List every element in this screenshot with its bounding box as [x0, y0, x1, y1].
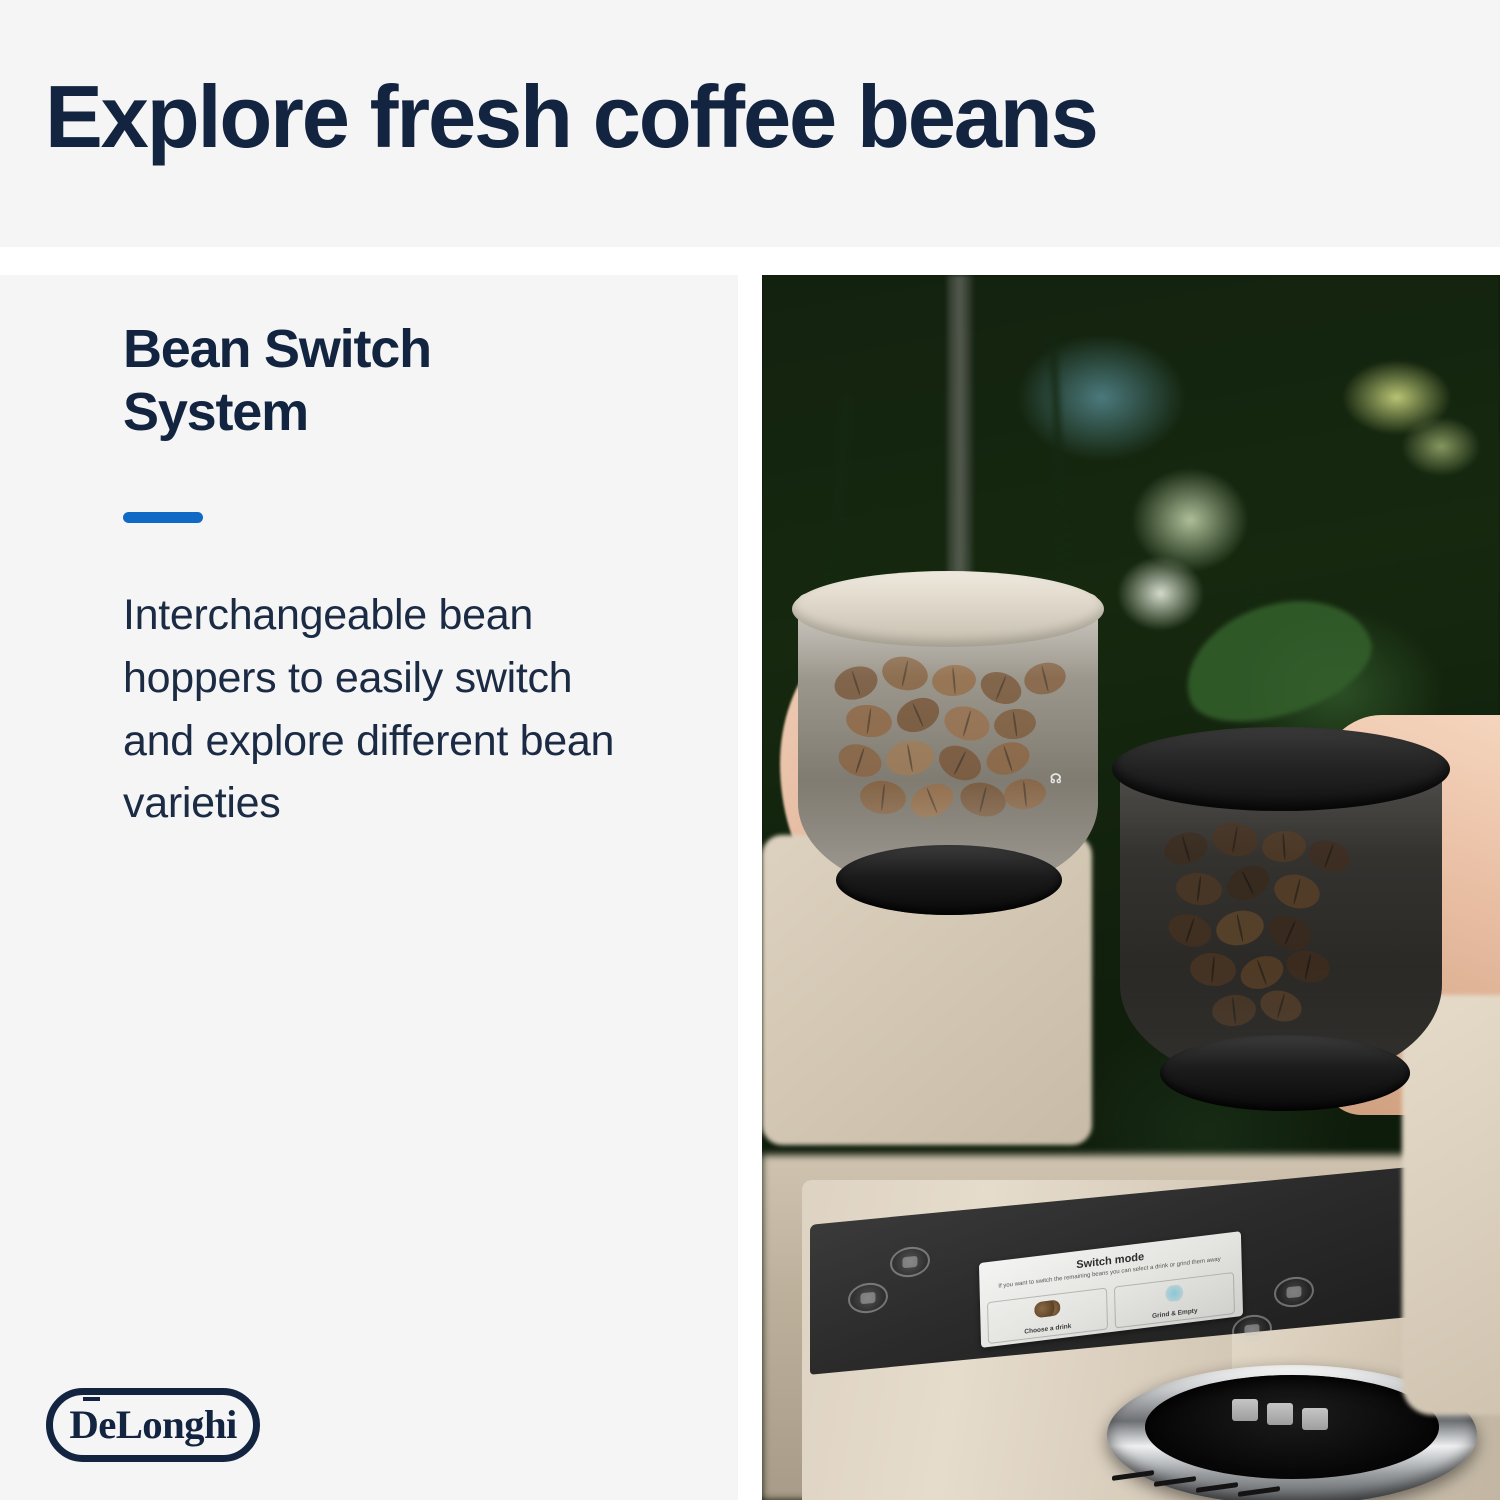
hopper-brand-mark: ☊: [1050, 771, 1061, 787]
coffee-bean: [1189, 951, 1238, 988]
product-photo: Switch mode If you want to switch the re…: [762, 275, 1500, 1500]
coffee-bean: [1236, 950, 1288, 994]
coffee-bean: [957, 778, 1010, 821]
coffee-bean: [933, 739, 987, 787]
coffee-bean: [982, 737, 1033, 780]
grind-empty-icon: [1161, 1284, 1187, 1303]
hopper-mount-ring: [836, 845, 1062, 915]
coffee-bean: [940, 701, 993, 745]
coffee-bean: [906, 778, 958, 823]
hopper-lid[interactable]: [1112, 727, 1450, 811]
coffee-bean: [1174, 870, 1224, 907]
coffee-bean: [1304, 835, 1354, 878]
promo-page: Explore fresh coffee beans Bean Switch S…: [0, 0, 1500, 1500]
delonghi-logo-text: DeLonghi: [69, 1405, 236, 1445]
coffee-bean: [883, 737, 936, 779]
coffee-bean: [1161, 828, 1212, 870]
left-content-panel: [0, 275, 738, 1500]
coffee-bean: [830, 661, 882, 705]
feature-title: Bean Switch System: [123, 318, 553, 443]
coffee-bean: [1021, 658, 1069, 698]
coffee-bean: [1257, 986, 1306, 1026]
coffee-bean: [1164, 909, 1215, 952]
coffee-bean: [1283, 947, 1332, 986]
coffee-bean: [844, 702, 894, 740]
dark-roast-hopper[interactable]: [1120, 753, 1442, 1083]
hopper-lid[interactable]: [792, 571, 1104, 647]
feature-description: Interchangeable bean hoppers to easily s…: [123, 584, 635, 835]
page-title: Explore fresh coffee beans: [45, 72, 1097, 162]
coffee-bean: [992, 706, 1038, 742]
coffee-bean: [879, 653, 931, 695]
warning-pictogram: [1302, 1408, 1328, 1430]
coffee-bean: [1271, 870, 1324, 913]
coffee-bean: [1003, 777, 1048, 811]
coffee-bean: [1211, 993, 1258, 1028]
warning-pictogram: [1267, 1403, 1293, 1425]
coffee-bean: [1209, 819, 1260, 859]
coffee-bean: [976, 666, 1026, 710]
coffee-bean: [834, 739, 885, 782]
coffee-bean: [931, 663, 978, 698]
logo-macron-accent: [83, 1397, 100, 1401]
delonghi-logo: DeLonghi: [46, 1388, 260, 1462]
hopper-mount-ring: [1160, 1035, 1410, 1111]
coffee-bean: [1261, 830, 1307, 864]
coffee-bean: [891, 691, 944, 738]
warning-pictogram: [1232, 1399, 1258, 1421]
header-band: Explore fresh coffee beans: [0, 0, 1500, 247]
coffee-bean: [1263, 909, 1316, 956]
coffee-bean: [858, 779, 907, 817]
coffee-bean: [1221, 859, 1275, 907]
hopper-socket-cavity: [1145, 1375, 1439, 1479]
coffee-bean: [1213, 906, 1267, 949]
accent-rule-divider: [123, 512, 203, 523]
coffee-beans-icon: [1034, 1299, 1060, 1318]
